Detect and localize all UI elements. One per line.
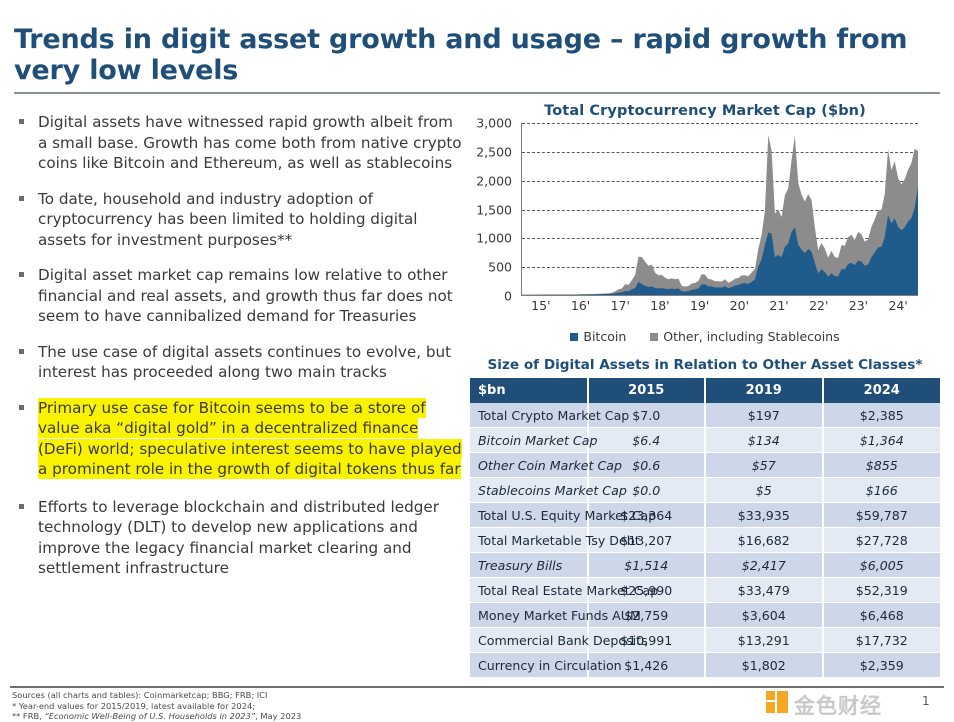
table-header-row: $bn201520192024: [470, 378, 940, 403]
chart-y-tick: 2,000: [470, 173, 512, 188]
chart-y-tick: 500: [470, 260, 512, 275]
chart-y-tick: 2,500: [470, 144, 512, 159]
sources-line-3-title: “Economic Well-Being of U.S. Households …: [44, 711, 255, 721]
bullet-text: Digital assets have witnessed rapid grow…: [38, 113, 462, 172]
chart-x-tick: 15': [531, 298, 550, 313]
chart-x-tick: 20': [730, 298, 749, 313]
bullet-marker-icon: [19, 196, 24, 201]
sources-line-1: Sources (all charts and tables): Coinmar…: [12, 690, 532, 701]
table-cell: $6.4: [588, 428, 706, 453]
bullet-list: Digital assets have witnessed rapid grow…: [16, 112, 466, 594]
table-row-label: Total U.S. Equity Market Cap: [470, 503, 588, 528]
table-row: Commercial Bank Deposits$10,991$13,291$1…: [470, 628, 940, 653]
table-head: $bn201520192024: [470, 378, 940, 403]
chart-y-tick: 3,000: [470, 116, 512, 131]
table-col-header: 2015: [588, 378, 706, 403]
bullet-marker-icon: [19, 272, 24, 277]
table-cell: $13,291: [705, 628, 823, 653]
bullet-marker-icon: [19, 119, 24, 124]
table-row-label: Treasury Bills: [470, 553, 588, 578]
chart-x-tick: 21': [769, 298, 788, 313]
table-row: Money Market Funds AUM$2,759$3,604$6,468: [470, 603, 940, 628]
chart-plot-area: 05001,0001,5002,0002,5003,000 15'16'17'1…: [470, 123, 940, 309]
bullet-item: Primary use case for Bitcoin seems to be…: [16, 398, 466, 480]
bullet-text: To date, household and industry adoption…: [38, 190, 418, 249]
page-number: 1: [922, 694, 930, 708]
chart-x-tick: 17': [611, 298, 630, 313]
chart-legend: BitcoinOther, including Stablecoins: [470, 329, 940, 344]
sources-line-3: ** FRB, “Economic Well-Being of U.S. Hou…: [12, 711, 532, 722]
asset-classes-table-wrap: Size of Digital Assets in Relation to Ot…: [470, 357, 940, 678]
table-cell: $59,787: [823, 503, 941, 528]
sources-line-3-pre: ** FRB,: [12, 711, 44, 721]
table-cell: $855: [823, 453, 941, 478]
table-cell: $197: [705, 403, 823, 428]
table-row-label: Stablecoins Market Cap: [470, 478, 588, 503]
table-body: Total Crypto Market Cap$7.0$197$2,385Bit…: [470, 403, 940, 678]
bullet-text: The use case of digital assets continues…: [38, 343, 451, 382]
table-cell: $2,417: [705, 553, 823, 578]
table-row: Total Real Estate Market Cap$25,990$33,4…: [470, 578, 940, 603]
legend-swatch-icon: [650, 333, 658, 341]
asset-classes-table: $bn201520192024 Total Crypto Market Cap$…: [470, 378, 940, 678]
table-cell: $6,005: [823, 553, 941, 578]
table-row-label: Bitcoin Market Cap: [470, 428, 588, 453]
table-col-header: $bn: [470, 378, 588, 403]
legend-swatch-icon: [570, 333, 578, 341]
table-row: Treasury Bills$1,514$2,417$6,005: [470, 553, 940, 578]
table-cell: $57: [705, 453, 823, 478]
title-block: Trends in digit asset growth and usage –…: [14, 24, 934, 86]
table-cell: $1,364: [823, 428, 941, 453]
table-cell: $134: [705, 428, 823, 453]
table-cell: $1,802: [705, 653, 823, 678]
jinse-logo-icon: [766, 691, 788, 713]
bullet-item: Digital assets have witnessed rapid grow…: [16, 112, 466, 174]
table-row: Other Coin Market Cap$0.6$57$855: [470, 453, 940, 478]
table-row: Currency in Circulation$1,426$1,802$2,35…: [470, 653, 940, 678]
table-row: Total U.S. Equity Market Cap$23,364$33,9…: [470, 503, 940, 528]
sources-line-2: * Year-end values for 2015/2019, latest …: [12, 701, 532, 712]
crypto-market-cap-chart: Total Cryptocurrency Market Cap ($bn) 05…: [470, 103, 940, 348]
table-cell: $5: [705, 478, 823, 503]
bullet-marker-icon: [19, 349, 24, 354]
chart-area-paths: [522, 123, 918, 295]
table-row-label: Total Real Estate Market Cap: [470, 578, 588, 603]
table-row: Total Crypto Market Cap$7.0$197$2,385: [470, 403, 940, 428]
chart-y-tick: 1,000: [470, 231, 512, 246]
table-row: Bitcoin Market Cap$6.4$134$1,364: [470, 428, 940, 453]
chart-x-axis-labels: 15'16'17'18'19'20'21'22'23'24': [521, 298, 918, 314]
table-cell: $52,319: [823, 578, 941, 603]
table-cell: $2,385: [823, 403, 941, 428]
chart-legend-item: Other, including Stablecoins: [650, 329, 839, 344]
chart-canvas: [521, 123, 918, 296]
bullet-text: Primary use case for Bitcoin seems to be…: [38, 398, 462, 480]
table-row-label: Currency in Circulation: [470, 653, 588, 678]
sources-note: Sources (all charts and tables): Coinmar…: [12, 690, 532, 722]
chart-x-tick: 19': [690, 298, 709, 313]
sources-line-3-post: , May 2023: [255, 711, 301, 721]
bullet-marker-icon: [19, 405, 24, 410]
title-divider: [14, 92, 940, 94]
table-cell: $33,935: [705, 503, 823, 528]
table-row: Total Marketable Tsy Debt$13,207$16,682$…: [470, 528, 940, 553]
chart-y-tick: 1,500: [470, 202, 512, 217]
table-row: Stablecoins Market Cap$0.0$5$166: [470, 478, 940, 503]
table-cell: $27,728: [823, 528, 941, 553]
chart-title: Total Cryptocurrency Market Cap ($bn): [470, 103, 940, 119]
table-row-label: Other Coin Market Cap: [470, 453, 588, 478]
legend-label: Other, including Stablecoins: [663, 329, 839, 344]
table-cell: $16,682: [705, 528, 823, 553]
table-row-label: Money Market Funds AUM: [470, 603, 588, 628]
legend-label: Bitcoin: [583, 329, 626, 344]
bullet-text: Efforts to leverage blockchain and distr…: [38, 498, 439, 578]
bullet-text: Digital asset market cap remains low rel…: [38, 266, 453, 325]
table-col-header: 2024: [823, 378, 941, 403]
bullet-item: The use case of digital assets continues…: [16, 342, 466, 383]
table-cell: $17,732: [823, 628, 941, 653]
table-cell: $6,468: [823, 603, 941, 628]
chart-legend-item: Bitcoin: [570, 329, 626, 344]
table-cell: $2,359: [823, 653, 941, 678]
chart-x-tick: 23': [849, 298, 868, 313]
table-row-label: Total Crypto Market Cap: [470, 403, 588, 428]
footer-divider: [10, 686, 944, 688]
table-cell: $33,479: [705, 578, 823, 603]
chart-x-tick: 22': [809, 298, 828, 313]
chart-x-tick: 18': [650, 298, 669, 313]
bullet-item: To date, household and industry adoption…: [16, 189, 466, 251]
table-row-label: Commercial Bank Deposits: [470, 628, 588, 653]
table-cell: $166: [823, 478, 941, 503]
watermark-text: 金色财经: [794, 690, 882, 720]
watermark-logo: 金色财经: [766, 690, 936, 716]
slide-root: Trends in digit asset growth and usage –…: [0, 0, 954, 722]
table-cell: $1,514: [588, 553, 706, 578]
chart-x-tick: 16': [571, 298, 590, 313]
bullet-marker-icon: [19, 504, 24, 509]
bullet-item: Digital asset market cap remains low rel…: [16, 265, 466, 327]
chart-x-tick: 24': [888, 298, 907, 313]
bullet-item: Efforts to leverage blockchain and distr…: [16, 497, 466, 579]
table-row-label: Total Marketable Tsy Debt: [470, 528, 588, 553]
page-title: Trends in digit asset growth and usage –…: [14, 24, 934, 86]
chart-y-tick: 0: [470, 289, 512, 304]
table-cell: $3,604: [705, 603, 823, 628]
table-col-header: 2019: [705, 378, 823, 403]
table-title: Size of Digital Assets in Relation to Ot…: [470, 357, 940, 373]
